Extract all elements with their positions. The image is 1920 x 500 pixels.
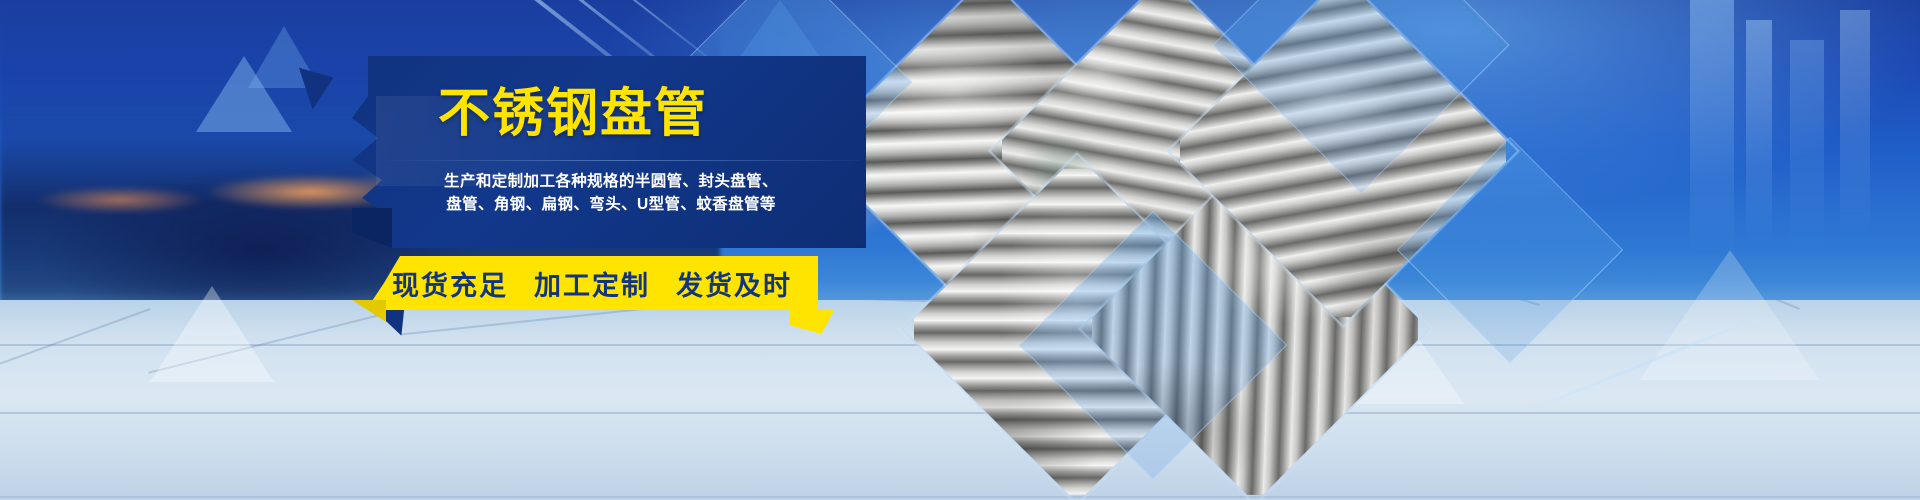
tagline-item-2: 加工定制 bbox=[534, 264, 650, 303]
tagline-text-group: 现货充足 加工定制 发货及时 bbox=[366, 256, 818, 310]
decor-triangle-e bbox=[1640, 250, 1820, 380]
banner-subtitle-line-2: 盘管、角钢、扁钢、弯头、U型管、蚊香盘管等 bbox=[376, 193, 846, 216]
decor-triangle-c bbox=[150, 286, 274, 382]
tagline-item-3: 发货及时 bbox=[676, 264, 792, 303]
banner-subtitle-line-1: 生产和定制加工各种规格的半圆管、封头盘管、 bbox=[376, 170, 846, 193]
headline-ribbon-divider bbox=[382, 160, 860, 161]
banner-title: 不锈钢盘管 bbox=[438, 88, 798, 140]
tagline-item-1: 现货充足 bbox=[392, 264, 508, 303]
promo-banner: 不锈钢盘管 生产和定制加工各种规格的半圆管、封头盘管、 盘管、角钢、扁钢、弯头、… bbox=[0, 0, 1920, 500]
banner-subtitle: 生产和定制加工各种规格的半圆管、封头盘管、 盘管、角钢、扁钢、弯头、U型管、蚊香… bbox=[376, 170, 846, 216]
